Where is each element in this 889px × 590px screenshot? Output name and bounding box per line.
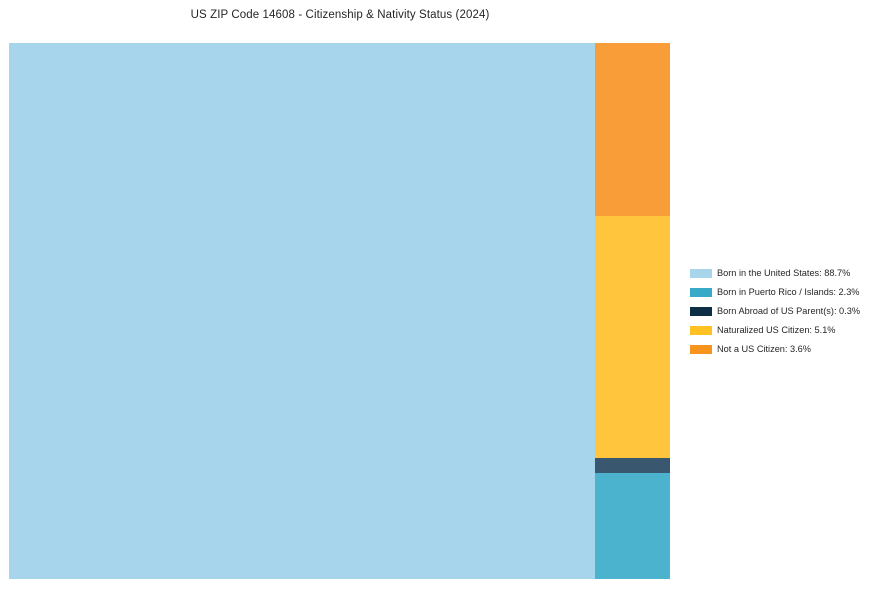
treemap-tile[interactable] [595,216,670,458]
chart-title: US ZIP Code 14608 - Citizenship & Nativi… [0,9,680,21]
legend-color-swatch [690,269,712,278]
legend-item[interactable]: Not a US Citizen: 3.6% [690,340,880,359]
treemap-tile[interactable] [595,43,670,216]
legend-color-swatch [690,307,712,316]
chart-legend: Born in the United States: 88.7%Born in … [690,264,880,359]
legend-item[interactable]: Born in Puerto Rico / Islands: 2.3% [690,283,880,302]
chart-figure: US ZIP Code 14608 - Citizenship & Nativi… [0,0,889,590]
treemap-plot-area [9,43,670,579]
legend-item[interactable]: Born Abroad of US Parent(s): 0.3% [690,302,880,321]
treemap-tile[interactable] [595,473,670,579]
legend-item-label: Born Abroad of US Parent(s): 0.3% [717,306,860,317]
treemap-tile[interactable] [595,458,670,473]
legend-item-label: Born in the United States: 88.7% [717,268,850,279]
treemap-tile[interactable] [9,43,595,579]
legend-item-label: Naturalized US Citizen: 5.1% [717,325,835,336]
legend-color-swatch [690,288,712,297]
legend-item[interactable]: Born in the United States: 88.7% [690,264,880,283]
legend-color-swatch [690,326,712,335]
legend-item-label: Not a US Citizen: 3.6% [717,344,811,355]
legend-color-swatch [690,345,712,354]
legend-item-label: Born in Puerto Rico / Islands: 2.3% [717,287,859,298]
legend-item[interactable]: Naturalized US Citizen: 5.1% [690,321,880,340]
